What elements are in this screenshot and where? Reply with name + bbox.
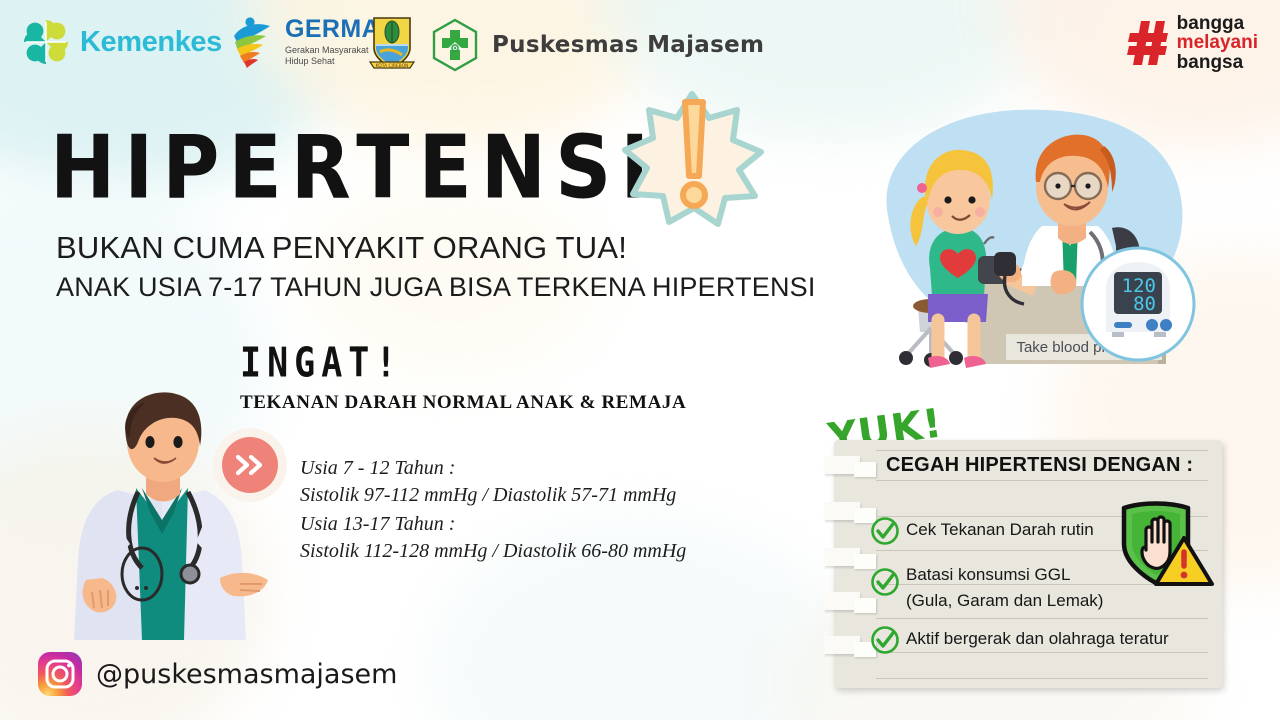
logo-kemenkes: Kemenkes	[20, 16, 222, 68]
hero-subtitle-1: BUKAN CUMA PENYAKIT ORANG TUA!	[56, 230, 627, 266]
female-doctor-illustration	[58, 372, 278, 672]
svg-text:KOTA CIREBON: KOTA CIREBON	[376, 63, 409, 69]
prevention-item-text: Batasi konsumsi GGL	[906, 565, 1070, 585]
notepad-rule	[876, 652, 1208, 653]
puskesmas-label: Puskesmas Majasem	[492, 32, 764, 58]
bangga-line2: melayani	[1177, 33, 1258, 52]
notepad-rule	[876, 480, 1208, 481]
germas-figure-icon	[228, 14, 280, 70]
instagram-icon[interactable]	[38, 652, 82, 696]
double-chevron-right-icon	[222, 437, 278, 493]
instagram-handle-text: @puskesmasmajasem	[96, 659, 397, 690]
green-cross-hexagon-icon	[430, 18, 480, 72]
hero-subtitle-2: ANAK USIA 7-17 TAHUN JUGA BISA TERKENA H…	[56, 272, 816, 303]
prevention-title: CEGAH HIPERTENSI DENGAN :	[886, 454, 1193, 477]
exclamation-starburst-icon	[617, 88, 767, 228]
green-check-circle-icon	[870, 516, 900, 546]
germas-tagline-line1: Gerakan Masyarakat	[285, 45, 369, 55]
kota-cirebon-emblem-icon: KOTA CIREBON	[368, 14, 416, 72]
doctor-with-child-illustration: Take blood pressure	[866, 96, 1196, 386]
notepad-tab	[854, 462, 876, 477]
notepad-rule	[876, 450, 1208, 451]
page-title: HIPERTENSI	[50, 118, 658, 219]
prevention-item-text: Cek Tekanan Darah rutin	[906, 520, 1094, 540]
ingat-heading: INGAT!	[240, 340, 402, 387]
age-range-entry: Usia 7 - 12 Tahun : Sistolik 97-112 mmHg…	[300, 455, 676, 509]
prevention-item-subtext: (Gula, Garam dan Lemak)	[906, 591, 1103, 611]
poster-canvas: Kemenkes GERMAS Gerakan Masyarakat Hidup…	[0, 0, 1280, 720]
age-range-values: Sistolik 97-112 mmHg / Diastolik 57-71 m…	[300, 482, 676, 509]
age-range-label: Usia 7 - 12 Tahun :	[300, 455, 676, 482]
germas-tagline-line2: Hidup Sehat	[285, 56, 335, 66]
age-range-values: Sistolik 112-128 mmHg / Diastolik 66-80 …	[300, 538, 686, 565]
header-logo-bar: Kemenkes GERMAS Gerakan Masyarakat Hidup…	[0, 0, 1280, 88]
shield-hand-warning-icon	[1112, 496, 1216, 590]
red-hashtag-icon	[1127, 18, 1171, 68]
notepad-tab	[854, 598, 876, 613]
logo-puskesmas: Puskesmas Majasem	[430, 18, 764, 72]
age-range-entry: Usia 13-17 Tahun : Sistolik 112-128 mmHg…	[300, 511, 686, 565]
kemenkes-label: Kemenkes	[80, 26, 222, 59]
notepad-rule	[876, 678, 1208, 679]
bangga-line1: bangga	[1177, 14, 1258, 33]
age-range-label: Usia 13-17 Tahun :	[300, 511, 686, 538]
logo-bangga-melayani-bangsa: bangga melayani bangsa	[1127, 14, 1258, 72]
kemenkes-pinwheel-icon	[20, 16, 72, 68]
prevention-item-text: Aktif bergerak dan olahraga teratur	[906, 629, 1169, 649]
green-check-circle-icon	[870, 567, 900, 597]
notepad-rule	[876, 618, 1208, 619]
monitor-diastolic-text: 80	[1133, 293, 1156, 315]
instagram-handle[interactable]: @puskesmasmajasem	[38, 652, 397, 696]
green-check-circle-icon	[870, 625, 900, 655]
ingat-subheading: TEKANAN DARAH NORMAL ANAK & REMAJA	[240, 392, 686, 414]
bangga-line3: bangsa	[1177, 53, 1258, 72]
